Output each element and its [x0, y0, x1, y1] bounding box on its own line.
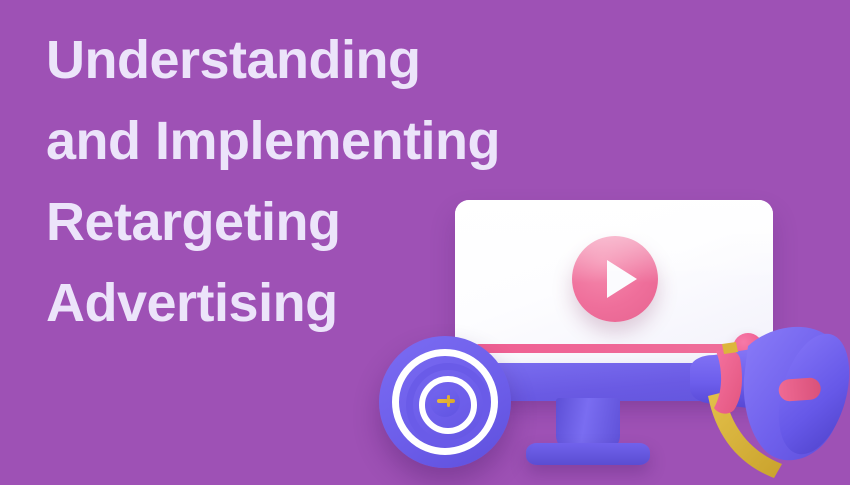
headline-line-2: and Implementing	[46, 101, 466, 182]
dart-icon	[437, 399, 455, 403]
headline-line-1: Understanding	[46, 20, 466, 101]
monitor-foot	[526, 443, 650, 465]
headline-line-3: Retargeting	[46, 182, 466, 263]
megaphone-svg	[686, 318, 850, 485]
page-title: Understanding and Implementing Retargeti…	[46, 20, 466, 344]
banner-canvas: Understanding and Implementing Retargeti…	[0, 0, 850, 485]
play-triangle-icon	[607, 260, 637, 298]
megaphone-mouthpiece	[778, 377, 821, 402]
megaphone-band-clip	[722, 342, 738, 354]
headline-line-4: Advertising	[46, 263, 466, 344]
play-button-icon[interactable]	[572, 236, 658, 322]
megaphone-icon	[686, 318, 850, 485]
dartboard-target-icon	[379, 336, 511, 468]
